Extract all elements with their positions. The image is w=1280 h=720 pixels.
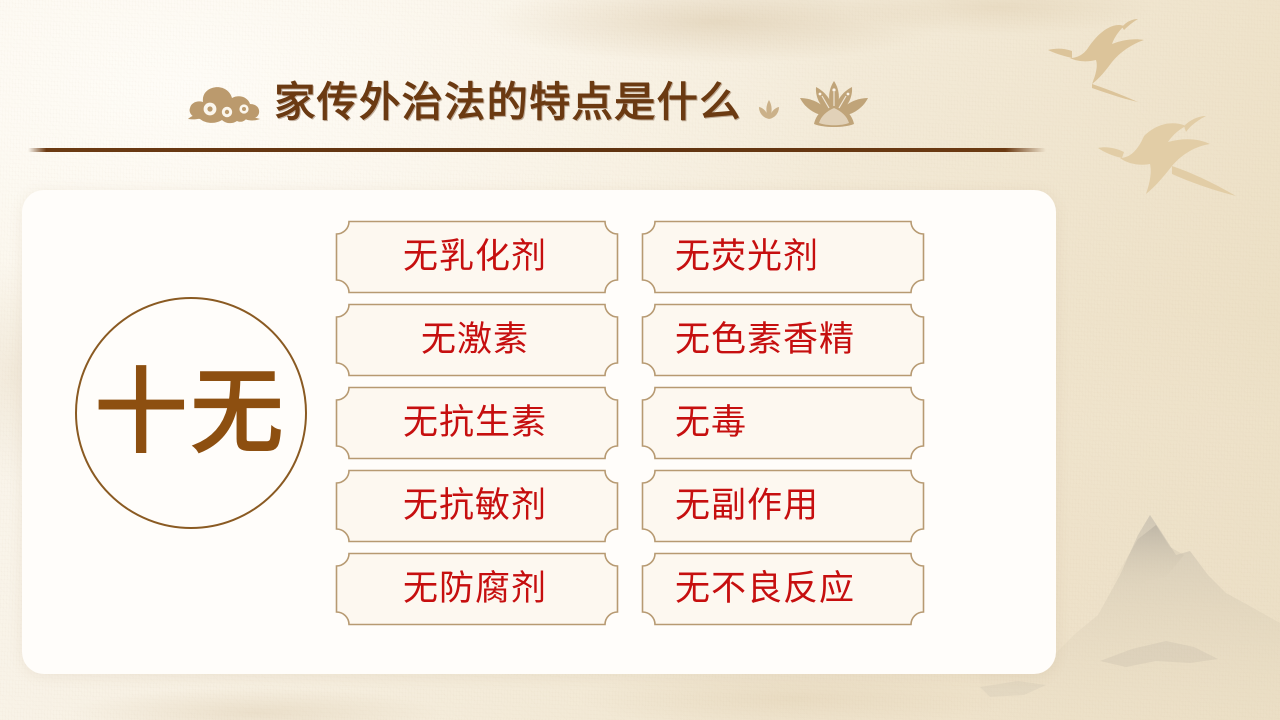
item-box[interactable]: 无荧光剂 xyxy=(641,220,925,294)
slide-header: 家传外治法的特点是什么 xyxy=(0,62,1280,158)
item-label: 无不良反应 xyxy=(675,572,855,607)
item-box[interactable]: 无毒 xyxy=(641,386,925,460)
circle-badge: 十无 xyxy=(75,297,307,529)
item-label: 无副作用 xyxy=(675,489,819,524)
item-box[interactable]: 无激素 xyxy=(335,303,619,377)
circle-badge-label: 十无 xyxy=(95,367,287,459)
cloud-icon xyxy=(188,84,260,126)
item-box[interactable]: 无乳化剂 xyxy=(335,220,619,294)
item-box[interactable]: 无抗生素 xyxy=(335,386,619,460)
page-title: 家传外治法的特点是什么 xyxy=(274,82,742,123)
item-box[interactable]: 无抗敏剂 xyxy=(335,469,619,543)
leaf-icon xyxy=(756,98,782,122)
item-label: 无抗生素 xyxy=(403,406,551,441)
item-label: 无激素 xyxy=(421,323,533,358)
item-label: 无荧光剂 xyxy=(675,240,819,275)
lotus-icon xyxy=(796,80,872,132)
item-label: 无毒 xyxy=(675,406,747,441)
item-label: 无抗敏剂 xyxy=(403,489,551,524)
item-label: 无乳化剂 xyxy=(403,240,551,275)
item-label: 无防腐剂 xyxy=(403,572,551,607)
item-label: 无色素香精 xyxy=(675,323,855,358)
item-box[interactable]: 无副作用 xyxy=(641,469,925,543)
title-row: 家传外治法的特点是什么 xyxy=(0,62,1060,142)
content-card: 十无 无乳化剂 无荧光剂 无激素 xyxy=(22,190,1056,674)
items-grid: 无乳化剂 无荧光剂 无激素 无色素香精 xyxy=(335,220,935,645)
slide-root: 家传外治法的特点是什么 xyxy=(0,0,1280,720)
title-underline-rule xyxy=(28,148,1046,152)
item-box[interactable]: 无防腐剂 xyxy=(335,552,619,626)
item-box[interactable]: 无不良反应 xyxy=(641,552,925,626)
item-box[interactable]: 无色素香精 xyxy=(641,303,925,377)
